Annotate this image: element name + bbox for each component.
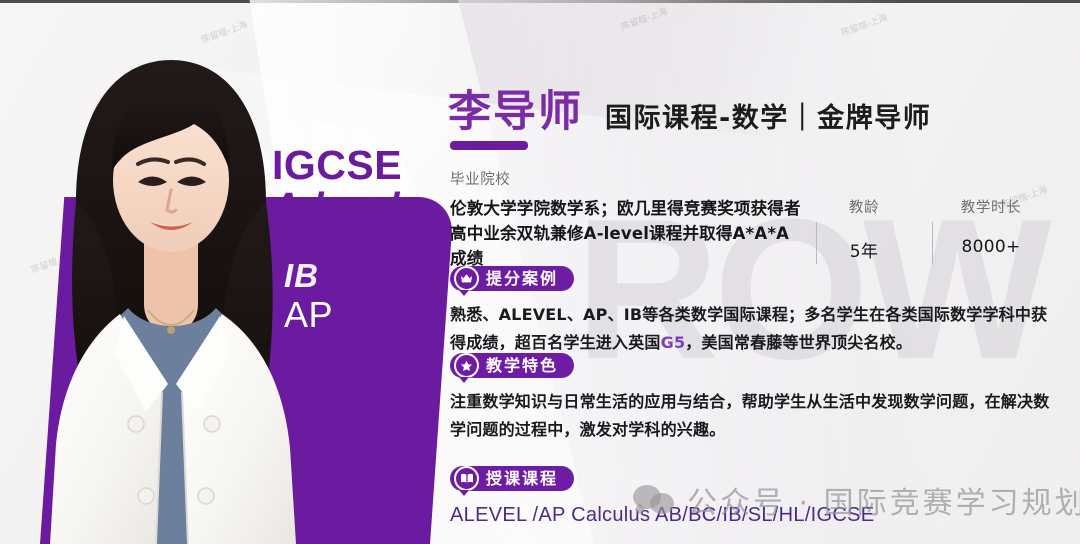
section-courses: 授课课程 ALEVEL /AP Calculus AB/BC/IB/SL/HL/… bbox=[450, 466, 1078, 527]
label-ap: AP bbox=[284, 295, 444, 335]
section-badge-score-cases: 提分案例 bbox=[450, 266, 574, 291]
stat-label: 教学时长 bbox=[932, 196, 1050, 217]
content-column: 李导师 国际课程-数学｜金牌导师 毕业院校 伦敦大学学院数学系；欧几里得竞赛奖项… bbox=[448, 0, 1080, 544]
crown-icon bbox=[454, 266, 479, 291]
page-title: 李导师 bbox=[448, 91, 583, 134]
stat-value: 5年 bbox=[816, 237, 912, 262]
stat-label: 教龄 bbox=[816, 196, 912, 217]
title-underline bbox=[450, 141, 528, 150]
micro-watermark: 陈留楦-上海 bbox=[199, 17, 249, 46]
credentials-grid: 伦敦大学学院数学系；欧几里得竞赛奖项获得者 高中业余双轨兼修A-level课程并… bbox=[450, 196, 1080, 271]
label-igcse: IGCSE bbox=[272, 143, 432, 187]
section-score-cases: 提分案例 熟悉、ALEVEL、AP、IB等各类数学国际课程；多名学生在各类国际数… bbox=[450, 266, 1078, 356]
left-label-group-outer: IGCSE A-level bbox=[272, 143, 432, 229]
tutor-name-block: 李导师 bbox=[448, 91, 583, 134]
tutor-profile-poster: ROW 陈留楦-上海 陈留楦-上海 陈留楦-上海 陈留楦-上海 陈留楦-上海 陈… bbox=[0, 0, 1080, 544]
school-line: 高中业余双轨兼修A-level课程并取得A*A*A成绩 bbox=[450, 221, 802, 271]
courses-list-text: ALEVEL /AP Calculus AB/BC/IB/SL/HL/IGCSE bbox=[450, 504, 1078, 527]
stat-teaching-years: 教龄 5年 bbox=[816, 196, 912, 262]
section-badge-label: 提分案例 bbox=[486, 271, 558, 287]
stat-divider bbox=[816, 222, 817, 264]
section-body-teaching-features: 注重数学知识与日常生活的应用与结合，帮助学生从生活中发现数学问题，在解决数学问题… bbox=[450, 388, 1050, 443]
school-label: 毕业院校 bbox=[450, 168, 1080, 189]
school-line: 伦敦大学学院数学系；欧几里得竞赛奖项获得者 bbox=[450, 196, 802, 221]
stat-value: 8000+ bbox=[932, 237, 1050, 257]
book-icon bbox=[454, 466, 479, 491]
section-badge-label: 教学特色 bbox=[486, 358, 558, 374]
body-text: ，美国常春藤等世界顶尖名校。 bbox=[685, 333, 912, 352]
stat-teaching-hours: 教学时长 8000+ bbox=[932, 196, 1050, 257]
section-badge-courses: 授课课程 bbox=[450, 466, 574, 491]
label-ib: IB bbox=[284, 258, 444, 295]
left-label-group-inner: IB AP bbox=[284, 258, 444, 335]
star-icon bbox=[454, 353, 479, 378]
school-lines: 伦敦大学学院数学系；欧几里得竞赛奖项获得者 高中业余双轨兼修A-level课程并… bbox=[450, 196, 802, 271]
tutor-portrait bbox=[16, 52, 326, 544]
label-alevel: A-level bbox=[272, 187, 432, 229]
highlight-g5: G5 bbox=[661, 333, 686, 352]
badge-tail bbox=[459, 490, 469, 496]
section-body-score-cases: 熟悉、ALEVEL、AP、IB等各类数学国际课程；多名学生在各类国际数学学科中获… bbox=[450, 301, 1050, 356]
section-teaching-features: 教学特色 注重数学知识与日常生活的应用与结合，帮助学生从生活中发现数学问题，在解… bbox=[450, 353, 1078, 443]
section-badge-teaching-features: 教学特色 bbox=[450, 353, 574, 378]
tutor-role: 国际课程-数学｜金牌导师 bbox=[605, 105, 931, 134]
credentials-block: 毕业院校 伦敦大学学院数学系；欧几里得竞赛奖项获得者 高中业余双轨兼修A-lev… bbox=[450, 168, 1080, 271]
section-badge-label: 授课课程 bbox=[486, 471, 558, 487]
stat-divider bbox=[932, 222, 933, 264]
badge-tail bbox=[459, 377, 469, 383]
badge-tail bbox=[459, 290, 469, 296]
title-row: 李导师 国际课程-数学｜金牌导师 bbox=[448, 84, 931, 134]
